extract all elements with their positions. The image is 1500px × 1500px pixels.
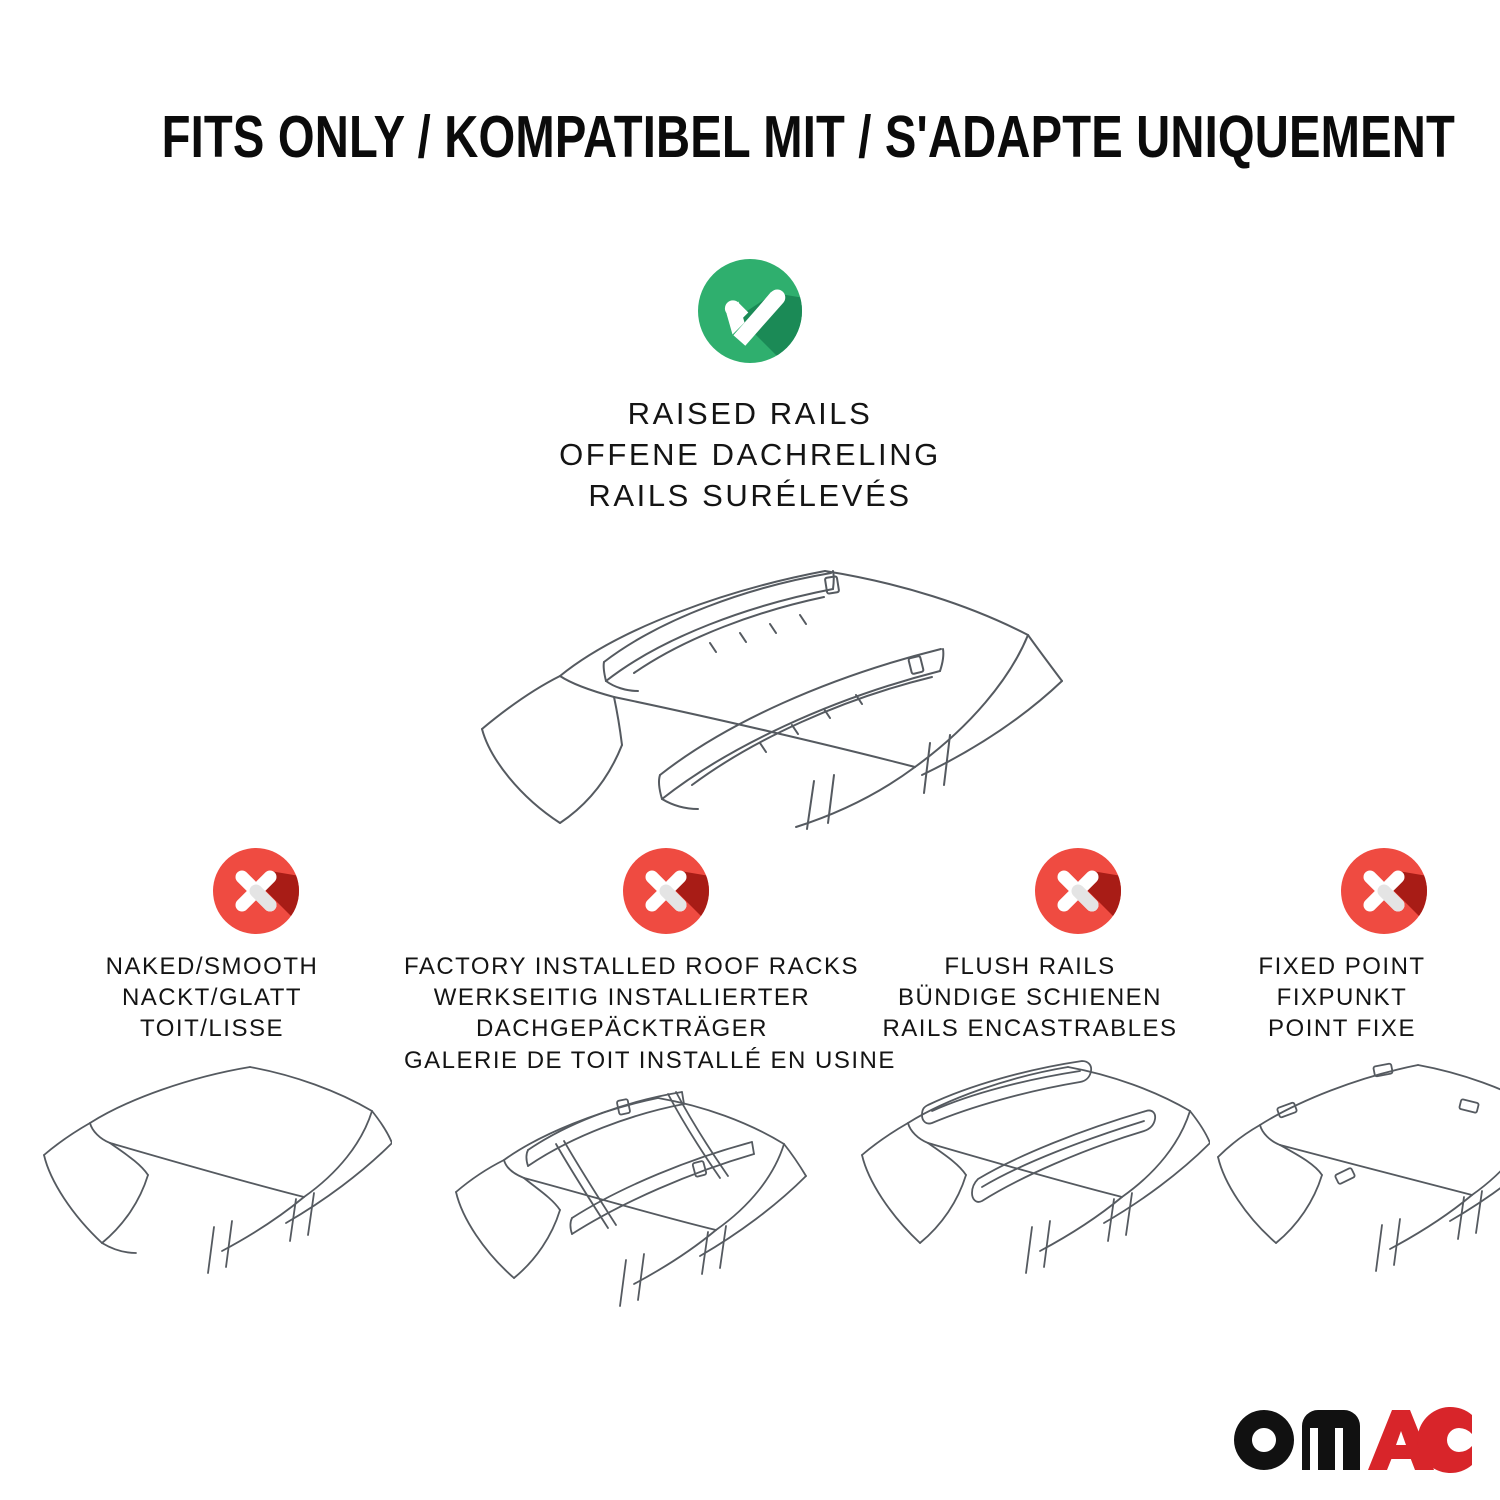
x-circle-icon	[210, 845, 302, 937]
incompatible-item-naked-smooth: NAKED/SMOOTH NACKT/GLATT TOIT/LISSE	[30, 845, 394, 1291]
omac-logo: OMAC	[1228, 1404, 1472, 1476]
label-line-2: NACKT/GLATT	[30, 982, 394, 1013]
car-roof-naked-smooth-illustration	[30, 1051, 394, 1291]
incompatible-section: NAKED/SMOOTH NACKT/GLATT TOIT/LISSE	[0, 845, 1500, 1315]
label-line-1: FACTORY INSTALLED ROOF RACKS	[404, 951, 840, 982]
label-line-2: FIXPUNKT	[1214, 982, 1470, 1013]
page-title: FITS ONLY / KOMPATIBEL MIT / S'ADAPTE UN…	[0, 108, 1500, 167]
compatible-label-line-2: OFFENE DACHRELING	[0, 434, 1500, 475]
label-line-2: WERKSEITIG INSTALLIERTER	[404, 982, 840, 1013]
car-roof-fixed-point-illustration	[1214, 1051, 1470, 1291]
page-title-text: FITS ONLY / KOMPATIBEL MIT / S'ADAPTE UN…	[162, 108, 1455, 167]
car-roof-factory-roof-racks-illustration	[404, 1082, 840, 1322]
incompatible-label-factory-roof-racks: FACTORY INSTALLED ROOF RACKS WERKSEITIG …	[404, 951, 840, 1076]
incompatible-label-naked-smooth: NAKED/SMOOTH NACKT/GLATT TOIT/LISSE	[30, 951, 394, 1045]
compatible-section: RAISED RAILS OFFENE DACHRELING RAILS SUR…	[0, 255, 1500, 831]
label-line-1: FLUSH RAILS	[850, 951, 1210, 982]
incompatible-label-flush-rails: FLUSH RAILS BÜNDIGE SCHIENEN RAILS ENCAS…	[850, 951, 1210, 1045]
incompatible-item-fixed-point: FIXED POINT FIXPUNKT POINT FIXE	[1214, 845, 1470, 1291]
label-line-3: POINT FIXE	[1214, 1013, 1470, 1044]
label-line-4: GALERIE DE TOIT INSTALLÉ EN USINE	[404, 1045, 840, 1076]
car-roof-flush-rails-illustration	[850, 1051, 1210, 1291]
compatible-label-line-3: RAILS SURÉLEVÉS	[0, 475, 1500, 516]
car-roof-with-raised-rails-illustration	[0, 531, 1500, 831]
label-line-3: DACHGEPÄCKTRÄGER	[404, 1013, 840, 1044]
incompatible-label-fixed-point: FIXED POINT FIXPUNKT POINT FIXE	[1214, 951, 1470, 1045]
incompatible-item-flush-rails: FLUSH RAILS BÜNDIGE SCHIENEN RAILS ENCAS…	[850, 845, 1210, 1291]
label-line-3: RAILS ENCASTRABLES	[850, 1013, 1210, 1044]
label-line-1: NAKED/SMOOTH	[30, 951, 394, 982]
x-circle-icon	[1032, 845, 1124, 937]
x-circle-icon	[620, 845, 712, 937]
x-circle-icon	[1338, 845, 1430, 937]
incompatible-item-factory-roof-racks: FACTORY INSTALLED ROOF RACKS WERKSEITIG …	[404, 845, 840, 1322]
label-line-1: FIXED POINT	[1214, 951, 1470, 982]
compatible-label-line-1: RAISED RAILS	[0, 393, 1500, 434]
label-line-2: BÜNDIGE SCHIENEN	[850, 982, 1210, 1013]
label-line-3: TOIT/LISSE	[30, 1013, 394, 1044]
check-circle-icon	[694, 255, 806, 367]
compatible-label: RAISED RAILS OFFENE DACHRELING RAILS SUR…	[0, 393, 1500, 517]
